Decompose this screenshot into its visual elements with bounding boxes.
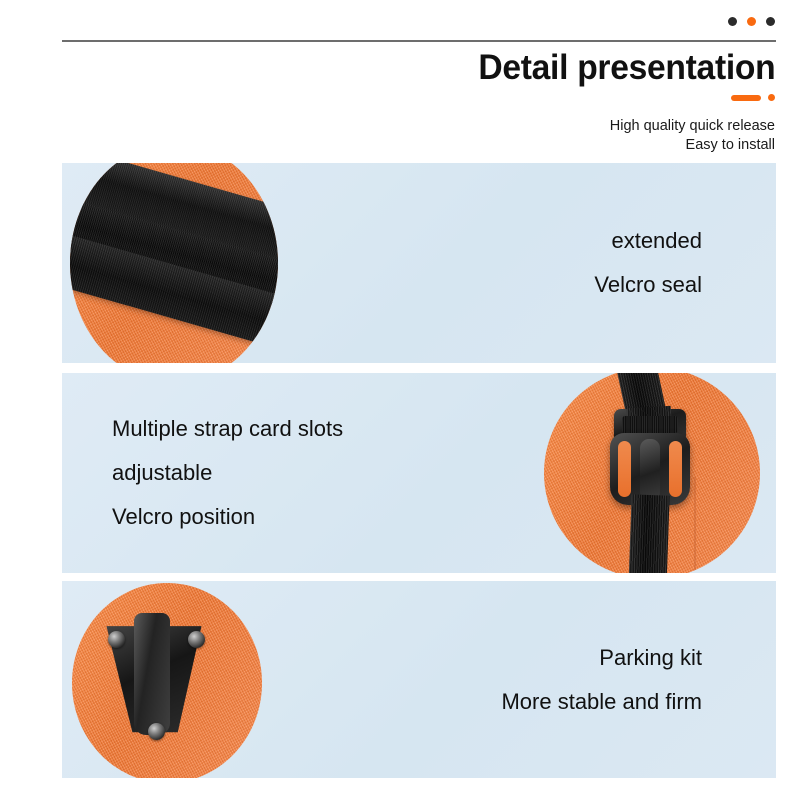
feature-panel-parking-kit: Parking kit More stable and firm — [62, 581, 776, 778]
feature-line: Velcro seal — [594, 263, 702, 307]
feature-panel-velcro-seal: extended Velcro seal — [62, 163, 776, 363]
photo-parking-bracket — [72, 583, 262, 778]
buckle-release-gap-right — [669, 441, 682, 497]
dot-dark-right-icon — [766, 17, 775, 26]
subtitle-line-1: High quality quick release — [610, 117, 775, 136]
feature-line: extended — [594, 219, 702, 263]
header-subtitle: High quality quick release Easy to insta… — [610, 117, 775, 155]
webbing-strap-bottom — [628, 494, 669, 573]
feature-text-strap-slots: Multiple strap card slots adjustable Vel… — [112, 407, 343, 539]
buckle-release-gap-left — [618, 441, 631, 497]
bracket-screw-top-left — [108, 631, 125, 648]
photo-velcro-seal-frame — [70, 163, 278, 363]
buckle-center-prong — [640, 439, 660, 501]
feature-line: adjustable — [112, 451, 343, 495]
subtitle-line-2: Easy to install — [610, 136, 775, 155]
page-title: Detail presentation — [478, 47, 775, 89]
feature-line: More stable and firm — [501, 680, 702, 724]
feature-panel-strap-slots: Multiple strap card slots adjustable Vel… — [62, 373, 776, 573]
feature-line: Multiple strap card slots — [112, 407, 343, 451]
accent-dot-icon — [768, 94, 775, 101]
buckle-adjuster-slot — [622, 416, 678, 433]
bracket-screw-bottom — [148, 723, 165, 740]
feature-text-velcro-seal: extended Velcro seal — [594, 219, 702, 307]
accent-dash-icon — [731, 95, 761, 101]
parking-bracket-ridge — [134, 613, 170, 735]
photo-velcro-seal — [70, 163, 278, 363]
photo-buckle-strap-frame — [544, 373, 760, 573]
header-divider — [62, 40, 776, 42]
title-accent-marker — [731, 94, 775, 101]
photo-buckle-strap — [544, 373, 760, 573]
dot-accent-icon — [747, 17, 756, 26]
feature-line: Parking kit — [501, 636, 702, 680]
photo-parking-bracket-frame — [72, 583, 262, 778]
fabric-seam-line — [694, 477, 696, 573]
bracket-screw-top-right — [188, 631, 205, 648]
header: Detail presentation High quality quick r… — [0, 0, 800, 160]
feature-text-parking-kit: Parking kit More stable and firm — [501, 636, 702, 724]
dot-dark-left-icon — [728, 17, 737, 26]
header-dot-group — [728, 17, 775, 26]
feature-line: Velcro position — [112, 495, 343, 539]
